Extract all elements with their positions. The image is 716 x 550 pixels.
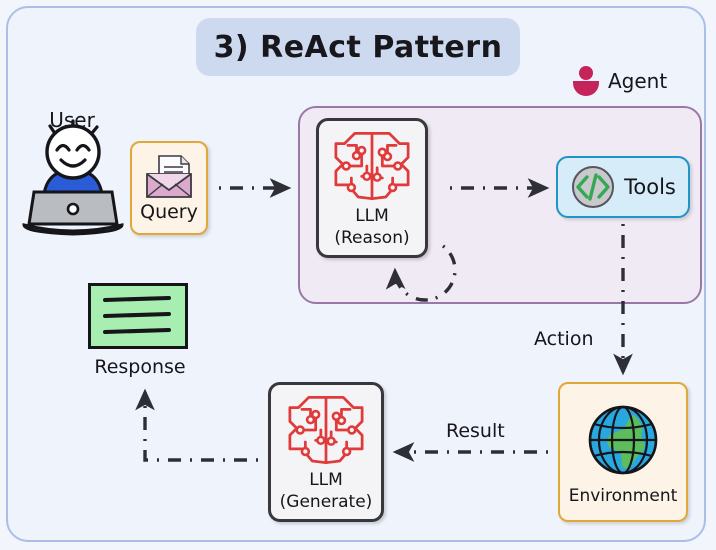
- result-edge-label: Result: [446, 420, 505, 442]
- environment-node[interactable]: Environment: [558, 382, 688, 522]
- person-body: [573, 81, 599, 96]
- tools-label: Tools: [624, 175, 676, 199]
- llm-generate-label-line2: (Generate): [280, 492, 373, 512]
- user-icon: [18, 108, 128, 238]
- llm-generate-node[interactable]: LLM (Generate): [268, 382, 384, 522]
- agent-label-group: Agent: [572, 60, 702, 102]
- title-badge: 3) ReAct Pattern: [196, 18, 520, 76]
- diagram-canvas: 3) ReAct Pattern User: [0, 0, 716, 550]
- llm-reason-label-line2: (Reason): [334, 228, 409, 248]
- user-stick-figure-with-laptop-icon: [18, 108, 128, 238]
- action-edge-label: Action: [534, 328, 594, 350]
- envelope-document-icon: [143, 154, 195, 200]
- page-title: 3) ReAct Pattern: [214, 30, 503, 65]
- response-label: Response: [70, 356, 210, 378]
- llm-reason-label-line1: LLM: [355, 206, 389, 226]
- person-icon: [572, 66, 600, 96]
- tools-node[interactable]: Tools: [556, 156, 690, 218]
- response-node[interactable]: [88, 283, 188, 349]
- person-head: [579, 66, 593, 80]
- llm-generate-label-line1: LLM: [309, 470, 343, 490]
- agent-label: Agent: [608, 69, 667, 93]
- query-node[interactable]: Query: [130, 141, 208, 235]
- environment-label: Environment: [569, 486, 678, 506]
- document-lines-icon: [91, 286, 185, 346]
- llm-reason-node[interactable]: LLM (Reason): [316, 118, 428, 258]
- globe-icon: [581, 398, 665, 482]
- query-label: Query: [140, 201, 198, 223]
- brain-circuit-icon: [283, 392, 369, 468]
- code-brackets-icon: [570, 164, 616, 210]
- brain-circuit-icon: [329, 128, 415, 204]
